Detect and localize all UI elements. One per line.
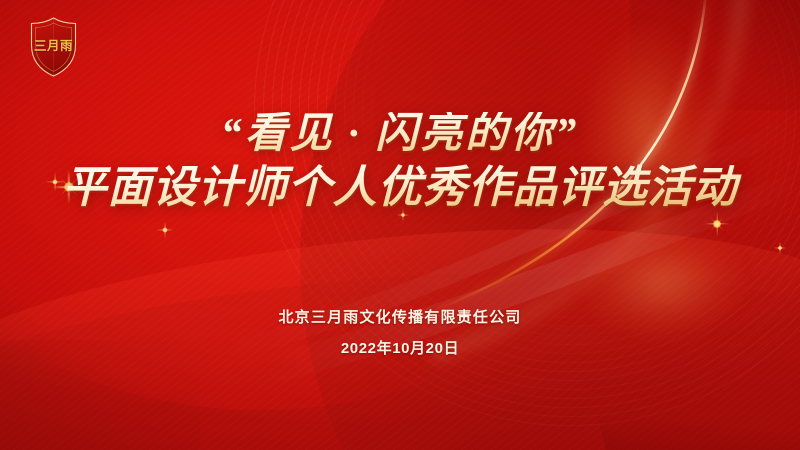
logo-characters: 三月雨 xyxy=(27,35,80,54)
background-vignette xyxy=(0,0,800,450)
title-block: “看见 · 闪亮的你” 平面设计师个人优秀作品评选活动 xyxy=(0,112,800,213)
brand-shield-logo: 三月雨 xyxy=(27,16,80,78)
event-date: 2022年10月20日 xyxy=(0,337,800,358)
footer-block: 北京三月雨文化传播有限责任公司 2022年10月20日 xyxy=(0,306,800,358)
poster-canvas: 三月雨 “看见 · 闪亮的你” 平面设计师个人优秀作品评选活动 北京三月雨文化传… xyxy=(0,0,800,450)
organizer-name: 北京三月雨文化传播有限责任公司 xyxy=(0,306,800,327)
poster-title-primary: “看见 · 闪亮的你” xyxy=(0,112,800,157)
poster-title-secondary: 平面设计师个人优秀作品评选活动 xyxy=(0,164,800,212)
